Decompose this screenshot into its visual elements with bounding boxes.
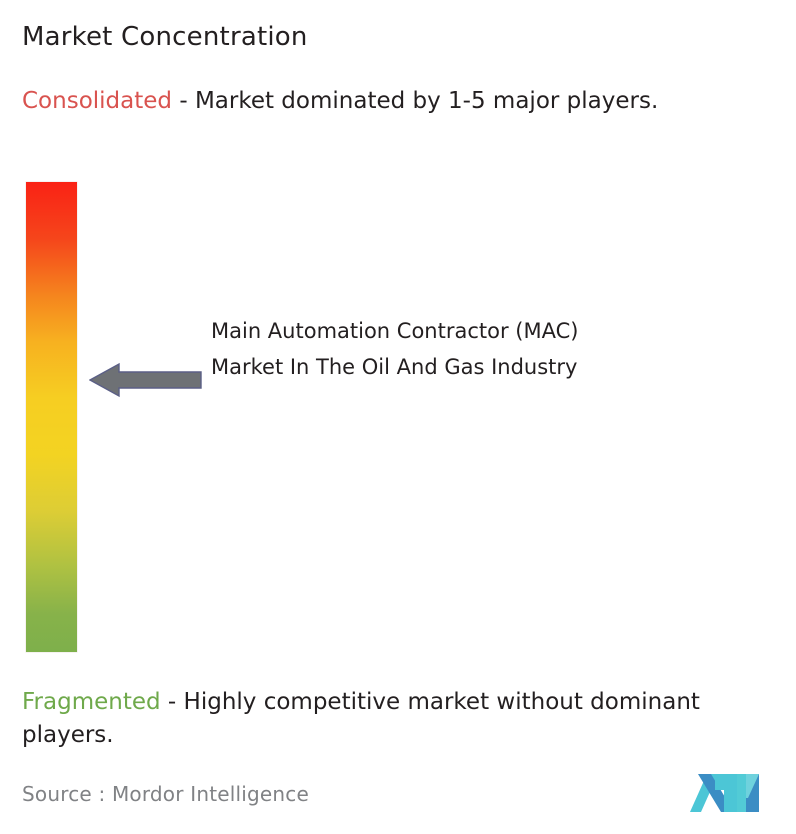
left-arrow-icon bbox=[89, 362, 202, 398]
legend-fragmented-separator: - bbox=[161, 689, 184, 715]
mordor-intelligence-logo-icon bbox=[690, 768, 762, 812]
legend-fragmented: Fragmented - Highly competitive market w… bbox=[22, 686, 786, 752]
market-name-label: Main Automation Contractor (MAC) Market … bbox=[211, 313, 611, 385]
page-title: Market Concentration bbox=[22, 20, 308, 54]
legend-consolidated: Consolidated - Market dominated by 1-5 m… bbox=[22, 85, 782, 118]
source-note: Source : Mordor Intelligence bbox=[22, 782, 309, 806]
concentration-gradient-bar bbox=[26, 182, 77, 652]
legend-consolidated-description: Market dominated by 1-5 major players. bbox=[195, 88, 658, 114]
legend-consolidated-separator: - bbox=[172, 88, 195, 114]
legend-consolidated-term: Consolidated bbox=[22, 88, 172, 114]
legend-fragmented-term: Fragmented bbox=[22, 689, 161, 715]
